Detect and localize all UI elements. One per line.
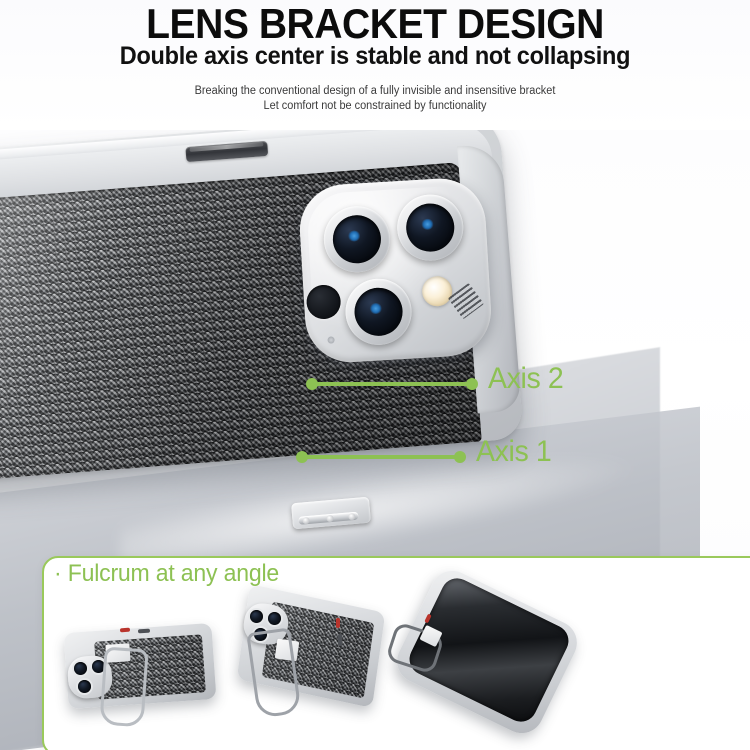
thumb1-volume-button-icon (138, 629, 150, 634)
callout-axis-2-dot-start (306, 378, 318, 390)
thumb-landscape-steep-angle[interactable] (232, 592, 392, 724)
thumb2-action-button-icon (336, 618, 340, 628)
thumb1-kickstand (99, 647, 148, 728)
thumb2-lens-2 (268, 612, 281, 625)
callout-axis-2-leader-line (310, 382, 472, 386)
phone-case-hero (0, 128, 525, 501)
thumb1-lens-3 (78, 680, 91, 693)
header-block: LENS BRACKET DESIGN Double axis center i… (0, 0, 750, 130)
thumb-landscape-low-angle[interactable] (62, 604, 222, 722)
thumb1-action-button-icon (120, 628, 130, 633)
callout-axis-2-dot-end (466, 378, 478, 390)
thumb2-volume-button-icon (338, 634, 342, 646)
thumb2-lens-1 (250, 610, 263, 623)
product-feature-page: LENS BRACKET DESIGN Double axis center i… (0, 0, 750, 750)
thumb1-lens-1 (74, 662, 87, 675)
description-line-2: Let comfort not be constrained by functi… (19, 99, 732, 114)
callout-axis-1-dot-end (454, 451, 466, 463)
page-subtitle: Double axis center is stable and not col… (23, 42, 728, 70)
callout-axis-1-leader-line (300, 455, 460, 459)
description-line-1: Breaking the conventional design of a fu… (19, 84, 732, 99)
callout-axis-1-label: Axis 1 (476, 437, 551, 467)
thumb-front-screen-view[interactable] (390, 574, 580, 734)
page-description: Breaking the conventional design of a fu… (19, 84, 732, 113)
callout-axis-2-label: Axis 2 (488, 364, 563, 394)
page-title: LENS BRACKET DESIGN (26, 2, 724, 46)
callout-axis-1-dot-start (296, 451, 308, 463)
fulcrum-title: · Fulcrum at any angle (54, 561, 279, 587)
